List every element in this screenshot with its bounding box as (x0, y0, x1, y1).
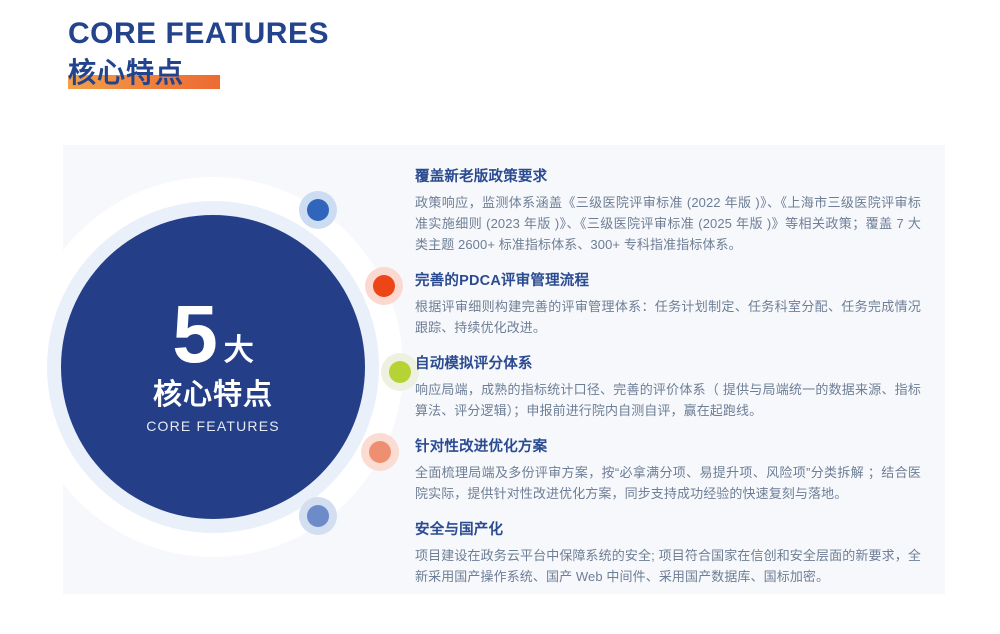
dot-blue-top-halo (299, 191, 337, 229)
core-number-row: 5 大 (172, 300, 254, 371)
dot-green (389, 361, 411, 383)
section-heading: CORE FEATURES 核心特点 (68, 16, 329, 90)
heading-english: CORE FEATURES (68, 16, 329, 52)
dot-blue-bottom (307, 505, 329, 527)
dot-red-halo (365, 267, 403, 305)
feature-list: 覆盖新老版政策要求政策响应，监测体系涵盖《三级医院评审标准 (2022 年版 )… (415, 167, 921, 587)
heading-chinese-wrap: 核心特点 (68, 56, 186, 90)
dot-salmon (369, 441, 391, 463)
feature-title: 完善的PDCA评审管理流程 (415, 271, 921, 291)
core-number: 5 (172, 300, 217, 371)
heading-chinese: 核心特点 (68, 57, 184, 88)
feature-item: 自动模拟评分体系响应局端，成熟的指标统计口径、完善的评价体系（ 提供与局端统一的… (415, 354, 921, 421)
dot-red (373, 275, 395, 297)
dot-salmon-halo (361, 433, 399, 471)
feature-title: 安全与国产化 (415, 520, 921, 540)
feature-description: 根据评审细则构建完善的评审管理体系：任务计划制定、任务科室分配、任务完成情况跟踪… (415, 296, 921, 338)
feature-description: 全面梳理局端及多份评审方案，按“必拿满分项、易提升项、风险项”分类拆解 ；结合医… (415, 462, 921, 504)
circle-core-badge: 5 大 核心特点 CORE FEATURES (61, 215, 365, 519)
dot-blue-bottom-halo (299, 497, 337, 535)
page-root: CORE FEATURES 核心特点 5 大 核心特点 CORE FEATURE… (0, 0, 1000, 634)
features-card: 5 大 核心特点 CORE FEATURES 覆盖新老版政策要求政策响应，监测体… (63, 145, 945, 594)
feature-item: 完善的PDCA评审管理流程根据评审细则构建完善的评审管理体系：任务计划制定、任务… (415, 271, 921, 338)
feature-description: 项目建设在政务云平台中保障系统的安全; 项目符合国家在信创和安全层面的新要求，全… (415, 545, 921, 587)
feature-title: 覆盖新老版政策要求 (415, 167, 921, 187)
feature-item: 针对性改进优化方案全面梳理局端及多份评审方案，按“必拿满分项、易提升项、风险项”… (415, 437, 921, 504)
dot-blue-top (307, 199, 329, 221)
dot-green-halo (381, 353, 419, 391)
feature-title: 针对性改进优化方案 (415, 437, 921, 457)
core-circle-graphic: 5 大 核心特点 CORE FEATURES (93, 167, 453, 567)
core-title-chinese: 核心特点 (153, 380, 273, 412)
feature-item: 安全与国产化项目建设在政务云平台中保障系统的安全; 项目符合国家在信创和安全层面… (415, 520, 921, 587)
feature-item: 覆盖新老版政策要求政策响应，监测体系涵盖《三级医院评审标准 (2022 年版 )… (415, 167, 921, 255)
core-title-english: CORE FEATURES (146, 419, 280, 434)
feature-title: 自动模拟评分体系 (415, 354, 921, 374)
feature-description: 响应局端，成熟的指标统计口径、完善的评价体系（ 提供与局端统一的数据来源、指标算… (415, 379, 921, 421)
core-unit: 大 (224, 336, 254, 366)
feature-description: 政策响应，监测体系涵盖《三级医院评审标准 (2022 年版 )》、《上海市三级医… (415, 192, 921, 255)
